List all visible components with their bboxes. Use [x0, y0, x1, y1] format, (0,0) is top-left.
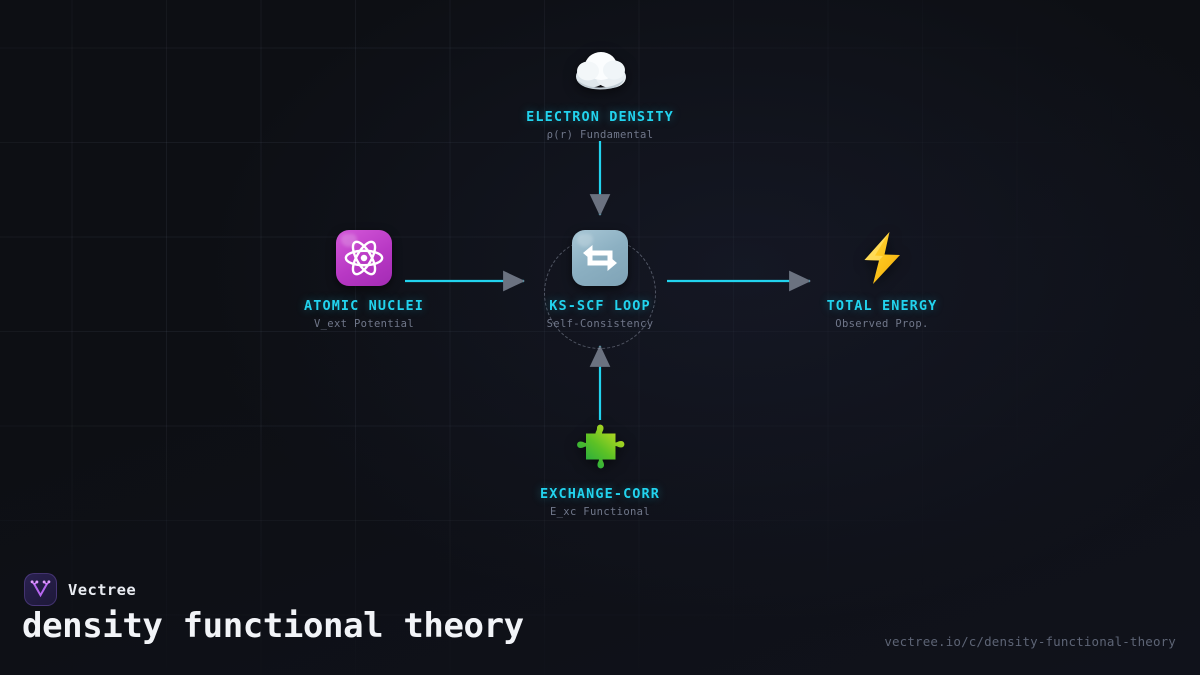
page-url: vectree.io/c/density-functional-theory [884, 634, 1176, 649]
cloud-icon [571, 47, 629, 91]
node-title-exchange-corr: EXCHANGE-CORR [485, 486, 715, 503]
brand[interactable]: Vectree [24, 573, 136, 606]
page-title: density functional theory [22, 609, 524, 643]
node-icon-exchange-corr [485, 415, 715, 477]
node-total-energy[interactable]: TOTAL ENERGY Observed Prop. [767, 227, 997, 332]
node-icon-total-energy [767, 227, 997, 289]
node-title-total-energy: TOTAL ENERGY [767, 298, 997, 315]
node-title-electron-density: ELECTRON DENSITY [485, 109, 715, 126]
node-subtitle-ks-scf-loop: Self-Consistency [485, 318, 715, 332]
repeat-loop-icon-tile [572, 230, 628, 286]
atom-icon [343, 237, 385, 279]
atom-icon-tile [336, 230, 392, 286]
node-electron-density[interactable]: ELECTRON DENSITY ρ(r) Fundamental [485, 38, 715, 143]
node-icon-electron-density [485, 38, 715, 100]
node-title-ks-scf-loop: KS-SCF LOOP [485, 298, 715, 315]
node-exchange-corr[interactable]: EXCHANGE-CORR E_xc Functional [485, 415, 715, 520]
node-subtitle-electron-density: ρ(r) Fundamental [485, 129, 715, 143]
footer: Vectree density functional theory vectre… [0, 560, 1200, 675]
node-icon-atomic-nuclei [249, 227, 479, 289]
node-atomic-nuclei[interactable]: ATOMIC NUCLEI V_ext Potential [249, 227, 479, 332]
node-ks-scf-loop[interactable]: KS-SCF LOOP Self-Consistency [485, 227, 715, 332]
brand-name: Vectree [68, 581, 136, 599]
graph-area: ELECTRON DENSITY ρ(r) Fundamental [0, 0, 1200, 560]
vectree-logo-icon [24, 573, 57, 606]
node-subtitle-total-energy: Observed Prop. [767, 318, 997, 332]
lightning-bolt-icon [859, 230, 905, 286]
diagram-canvas: ELECTRON DENSITY ρ(r) Fundamental [0, 0, 1200, 675]
puzzle-piece-icon [571, 418, 629, 474]
node-title-atomic-nuclei: ATOMIC NUCLEI [249, 298, 479, 315]
v-tree-glyph-icon [30, 579, 51, 600]
node-subtitle-exchange-corr: E_xc Functional [485, 506, 715, 520]
node-subtitle-atomic-nuclei: V_ext Potential [249, 318, 479, 332]
node-icon-ks-scf-loop [485, 227, 715, 289]
repeat-loop-icon [578, 236, 622, 280]
